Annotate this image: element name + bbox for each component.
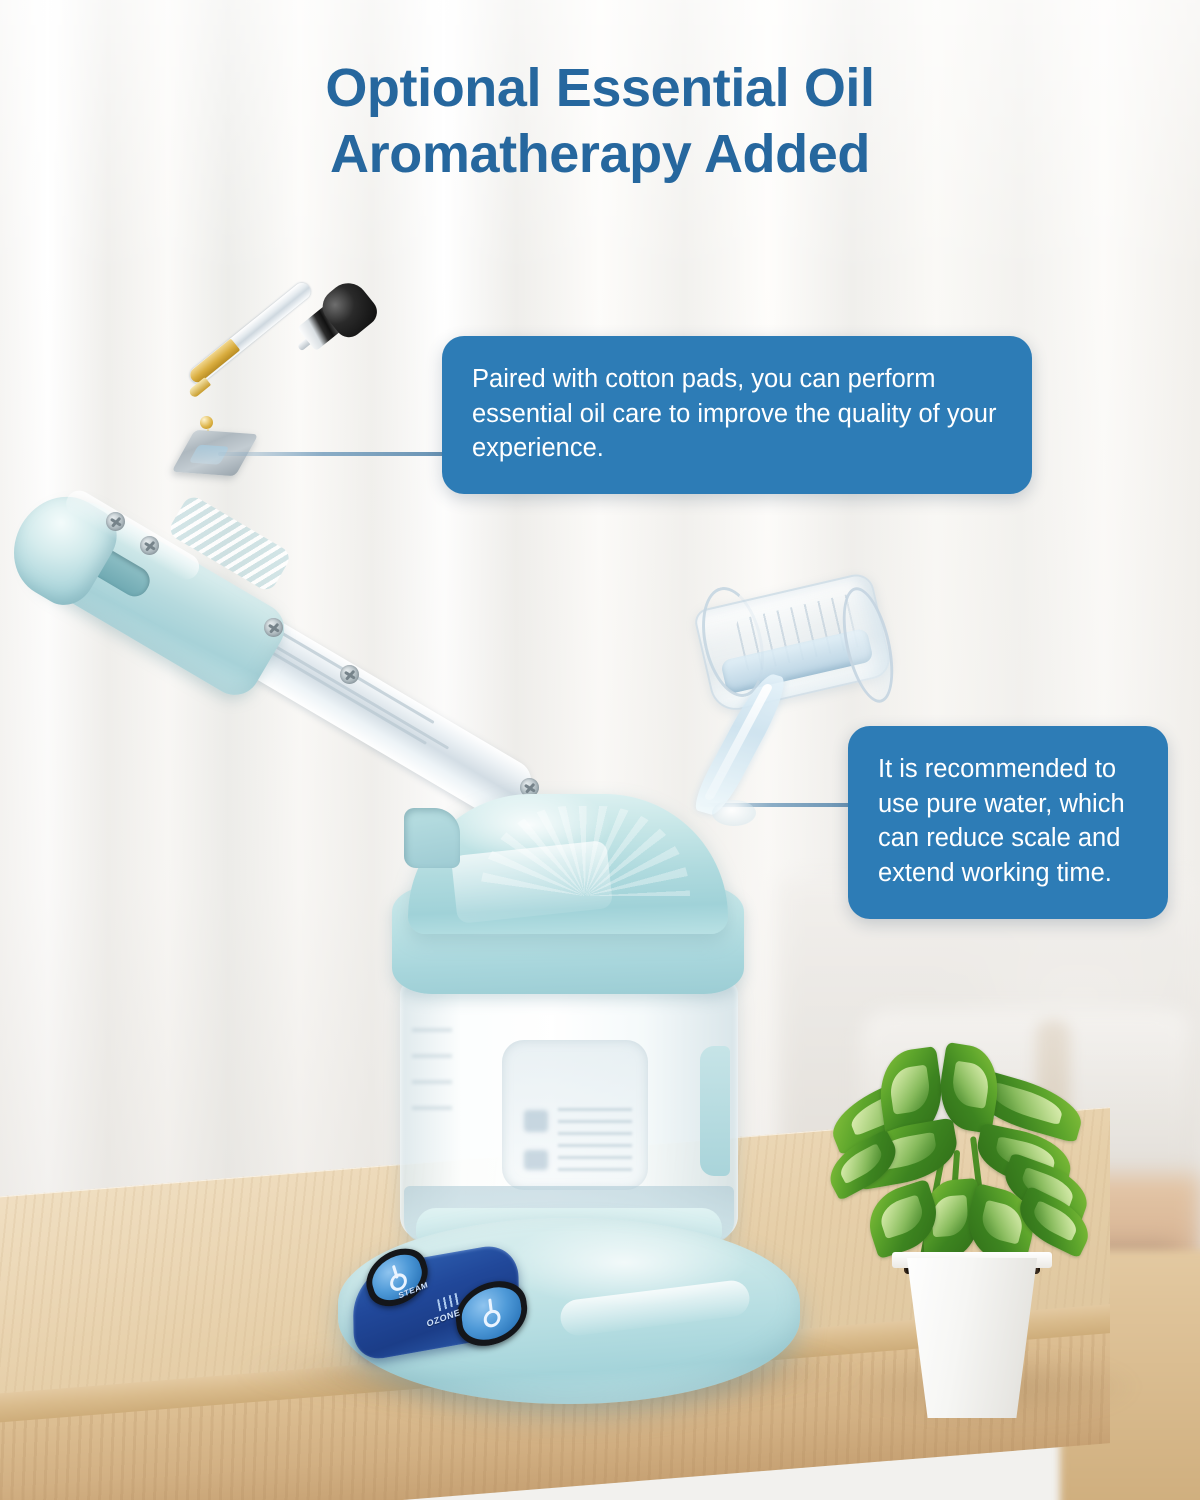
- steamer-nozzle-arm: [28, 470, 588, 830]
- screw-icon: [140, 536, 159, 555]
- page-title: Optional Essential Oil Aromatherapy Adde…: [0, 56, 1200, 188]
- screw-icon: [264, 618, 283, 637]
- water-splash: [712, 800, 756, 826]
- page-title-line-2: Aromatherapy Added: [0, 122, 1200, 188]
- page-title-line-1: Optional Essential Oil: [0, 56, 1200, 122]
- facial-steamer-device: STEAM OZONE: [330, 790, 800, 1410]
- screw-icon: [340, 665, 359, 684]
- tank-inner-part: [524, 1150, 548, 1170]
- switch-off-marking: [483, 1308, 502, 1330]
- dropper-oil-fill: [187, 338, 240, 385]
- tank-side-tab: [700, 1046, 730, 1176]
- plant-pot: [898, 1258, 1046, 1418]
- tank-graduation-marks: [558, 1108, 632, 1174]
- screw-icon: [106, 512, 125, 531]
- potted-plant: [820, 1040, 1120, 1430]
- tank-inner-part: [524, 1110, 548, 1132]
- tank-scale-marks-left: [412, 1028, 452, 1128]
- callout-essential-oil: Paired with cotton pads, you can perform…: [442, 336, 1032, 494]
- leader-line-callout-1: [218, 452, 450, 456]
- oil-bead: [200, 416, 213, 429]
- infographic-canvas: Optional Essential Oil Aromatherapy Adde…: [0, 0, 1200, 1500]
- callout-pure-water: It is recommended to use pure water, whi…: [848, 726, 1168, 919]
- lid-arm-notch: [404, 808, 460, 868]
